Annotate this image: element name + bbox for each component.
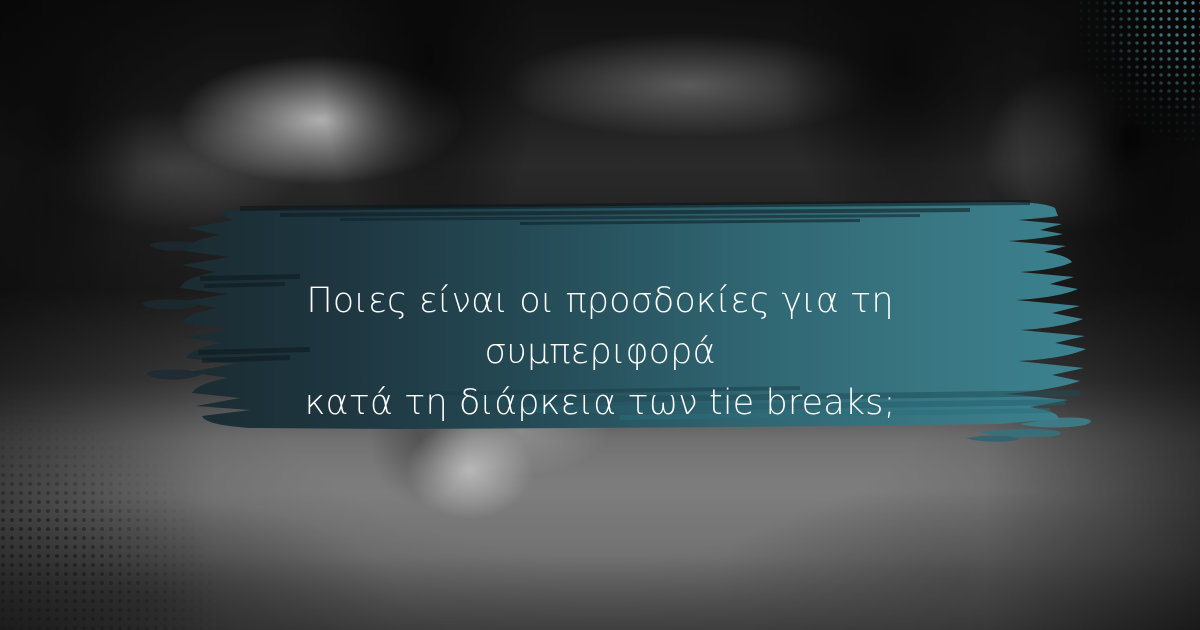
share-card: Ποιες είναι οι προσδοκίες για τη συμπερι… (0, 0, 1200, 630)
page-title: Ποιες είναι οι προσδοκίες για τη συμπερι… (190, 276, 1010, 429)
